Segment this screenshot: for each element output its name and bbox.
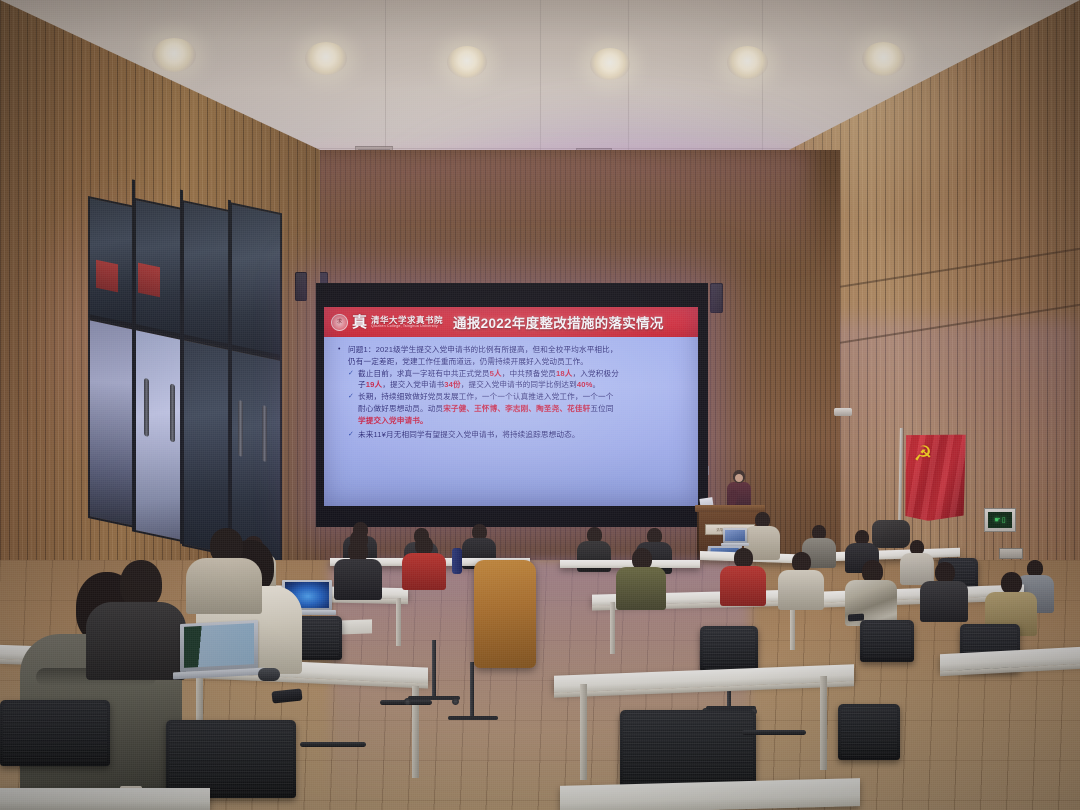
glass-door-pane[interactable]	[88, 318, 136, 528]
college-seal-icon: 求	[331, 314, 348, 331]
slide-body: • 问题1：2021级学生提交入党申请书的比例有所提高，但和全校平均水平相比， …	[338, 345, 688, 442]
chair[interactable]	[166, 720, 296, 798]
ceiling-downlight	[590, 48, 630, 80]
wall-speaker-side	[295, 272, 307, 301]
student	[920, 562, 968, 622]
mouse[interactable]	[258, 668, 280, 681]
wall-light-fixture-right	[834, 408, 852, 416]
subbullet-text: 长期，持续细致做好党员发展工作，一个一个认真推进入党工作，一个一个	[358, 392, 688, 403]
laptop-screen	[184, 623, 254, 668]
check-icon: ✓	[348, 430, 358, 441]
slide-title: 通报2022年度整改措施的落实情况	[453, 312, 664, 332]
door-handle[interactable]	[144, 378, 149, 437]
window-poster	[96, 260, 118, 293]
chair[interactable]	[620, 710, 756, 792]
wall-panel-right	[999, 548, 1023, 559]
subbullet-text: 耐心做好思想动员。动员宋子健、王怀博、李志刚、陶圣尧、花佳轩五位同	[358, 404, 688, 415]
slide-subbullet-line: 耐心做好思想动员。动员宋子健、王怀博、李志刚、陶圣尧、花佳轩五位同	[338, 404, 688, 415]
student	[720, 548, 766, 606]
chair[interactable]	[838, 704, 900, 760]
water-bottle	[452, 548, 462, 574]
bullet-text: 问题1：2021级学生提交入党申请书的比例有所提高，但和全校平均水平相比，	[348, 345, 688, 356]
slide-subbullet-line: 子19人，提交入党申请书34份，提交入党申请书的同学比例达到40%。	[338, 380, 688, 391]
glass-door-pane[interactable]	[182, 338, 232, 557]
door-handle[interactable]	[262, 405, 267, 462]
exit-door-icon: ▯	[1002, 517, 1006, 524]
college-name-en: Qiuzhen College, Tsinghua University	[371, 325, 443, 329]
slide-subbullet-line: ✓ 长期，持续细致做好党员发展工作，一个一个认真推进入党工作，一个一个	[338, 392, 688, 403]
party-flag: ☭	[904, 433, 966, 521]
student	[86, 560, 186, 680]
door-handle[interactable]	[238, 400, 243, 457]
ceiling-downlight	[727, 46, 768, 79]
chair-armrest	[742, 730, 806, 735]
slide-subbullet-line: 学提交入党申请书。	[338, 416, 688, 427]
ceiling-downlight	[305, 42, 347, 75]
student	[336, 530, 382, 584]
slide-title-banner: 求 真 清华大学求真书院 Qiuzhen College, Tsinghua U…	[324, 307, 698, 337]
subbullet-text: 子19人，提交入党申请书34份，提交入党申请书的同学比例达到40%。	[358, 380, 688, 391]
college-logo-mark: 真	[352, 315, 367, 330]
running-person-icon: ☛	[994, 517, 1000, 524]
subbullet-indent	[348, 404, 358, 415]
check-icon: ✓	[348, 369, 358, 380]
student	[186, 528, 262, 614]
student	[616, 548, 666, 610]
ceiling-downlight	[862, 42, 905, 76]
desk	[0, 788, 210, 810]
student	[778, 552, 824, 610]
bullet-text: 仍有一定差距，党建工作任重而道远，仍需持续开展好入党动员工作。	[348, 357, 688, 368]
slide-subbullet-line: ✓ 未来11¥月无相同学有望提交入党申请书，将持续追踪思想动态。	[338, 430, 688, 441]
chair-armrest	[300, 742, 366, 747]
chair[interactable]	[0, 700, 110, 766]
slide-bullet-line: • 问题1：2021级学生提交入党申请书的比例有所提高，但和全校平均水平相比，	[338, 345, 688, 356]
wall-speaker-right	[710, 283, 723, 313]
window-pane	[230, 202, 282, 359]
subbullet-text: 学提交入党申请书。	[358, 416, 688, 427]
laptop[interactable]	[180, 622, 258, 680]
bullet-dot-icon: •	[338, 345, 348, 356]
chair[interactable]	[860, 620, 914, 662]
ceiling-downlight	[447, 46, 487, 78]
subbullet-text: 未来11¥月无相同学有望提交入党申请书，将持续追踪思想动态。	[358, 430, 688, 441]
subbullet-indent	[348, 416, 358, 427]
check-icon: ✓	[348, 392, 358, 403]
classroom-photo: 求 真 清华大学求真书院 Qiuzhen College, Tsinghua U…	[0, 0, 1080, 810]
subbullet-text: 截止目前，求真一字班有中共正式党员5人，中共预备党员18人，入党积极分	[358, 369, 688, 380]
chair[interactable]	[700, 626, 758, 672]
window-pane	[182, 200, 232, 349]
student	[402, 536, 446, 590]
laptop[interactable]	[723, 528, 747, 546]
hammer-and-sickle-icon: ☭	[913, 444, 936, 470]
door-handle[interactable]	[170, 383, 175, 442]
slide-subbullet-line: ✓ 截止目前，求真一字班有中共正式党员5人，中共预备党员18人，入党积极分	[338, 369, 688, 380]
slide-bullet-line: 仍有一定差距，党建工作任重而道远，仍需持续开展好入党动员工作。	[338, 357, 688, 368]
window-poster	[138, 263, 160, 298]
emergency-exit-sign: ☛ ▯	[984, 508, 1016, 532]
coat-on-chair	[474, 560, 536, 668]
projection-screen: 求 真 清华大学求真书院 Qiuzhen College, Tsinghua U…	[324, 307, 698, 506]
bullet-indent	[338, 357, 348, 368]
glass-door-pane[interactable]	[134, 328, 184, 543]
subbullet-indent	[348, 380, 358, 391]
ceiling-downlight	[152, 38, 196, 72]
